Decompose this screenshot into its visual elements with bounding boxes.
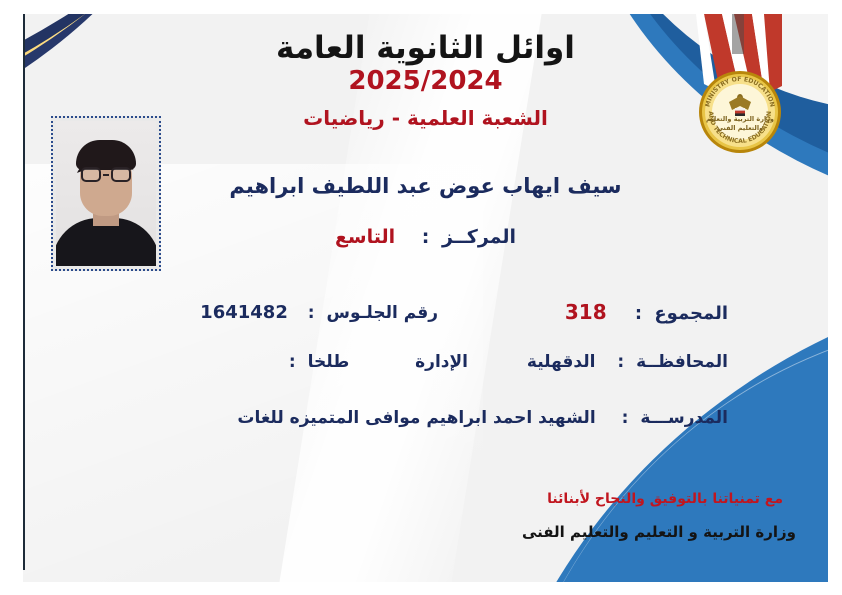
- administration-row: الإدارة طلخا :: [283, 352, 468, 372]
- governorate-value: الدقهلية: [527, 352, 596, 372]
- total-colon: :: [635, 303, 642, 324]
- seat-colon: :: [308, 303, 315, 323]
- total-label: المجموع: [654, 303, 728, 324]
- certificate-card: MINISTRY OF EDUCATION AND TECHNICAL EDUC…: [0, 0, 842, 595]
- academic-year: 2025/2024: [23, 66, 828, 96]
- school-value: الشهيد احمد ابراهيم موافى المتميزه للغات: [237, 408, 595, 428]
- seat-value: 1641482: [200, 302, 288, 323]
- certificate-page: MINISTRY OF EDUCATION AND TECHNICAL EDUC…: [23, 14, 828, 582]
- seat-row: رقم الجلـوس : 1641482: [200, 302, 438, 323]
- administration-colon: :: [289, 352, 296, 372]
- school-colon: :: [622, 408, 629, 428]
- student-name: سيف ايهاب عوض عبد اللطيف ابراهيم: [23, 174, 828, 198]
- school-row: المدرســـة : الشهيد احمد ابراهيم موافى ا…: [237, 408, 728, 428]
- rank-value: التاسع: [335, 226, 395, 248]
- administration-value: طلخا: [308, 352, 350, 372]
- rank-label: المركــز: [442, 226, 516, 248]
- rank-colon: :: [422, 226, 430, 248]
- page-title: اوائل الثانوية العامة: [23, 30, 828, 66]
- footer-wishes: مع تمنياتنا بالتوفيق والنجاح لأبنائنا: [547, 491, 783, 507]
- footer-ministry: وزارة التربية و التعليم والتعليم الفنى: [522, 523, 796, 541]
- left-border-rule: [23, 14, 25, 570]
- background-diagonal-band: [265, 14, 552, 582]
- seat-label: رقم الجلـوس: [327, 303, 439, 323]
- rank-row: المركــز : التاسع: [23, 226, 828, 248]
- governorate-row: المحافظــة : الدقهلية: [527, 352, 728, 372]
- school-label: المدرســـة: [640, 408, 728, 428]
- governorate-label: المحافظــة: [636, 352, 728, 372]
- total-row: المجموع : 318: [565, 300, 728, 324]
- total-value: 318: [565, 300, 607, 324]
- administration-label: الإدارة: [415, 352, 468, 372]
- governorate-colon: :: [617, 352, 624, 372]
